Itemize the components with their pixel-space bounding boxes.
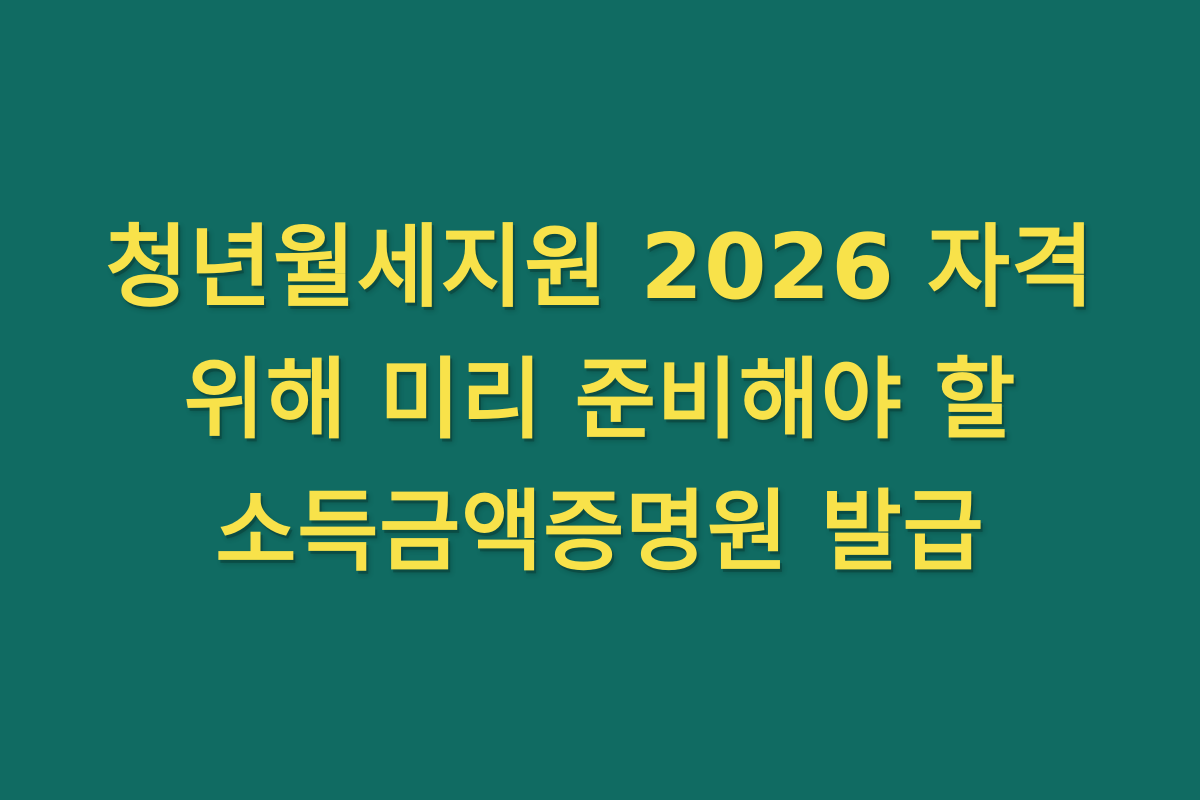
thumbnail-banner: 청년월세지원 2026 자격 위해 미리 준비해야 할 소득금액증명원 발급 [0, 0, 1200, 800]
banner-title: 청년월세지원 2026 자격 위해 미리 준비해야 할 소득금액증명원 발급 [40, 202, 1160, 598]
banner-title-line-2: 위해 미리 준비해야 할 [40, 334, 1160, 466]
banner-title-line-3: 소득금액증명원 발급 [40, 466, 1160, 598]
banner-title-line-1: 청년월세지원 2026 자격 [40, 202, 1160, 334]
